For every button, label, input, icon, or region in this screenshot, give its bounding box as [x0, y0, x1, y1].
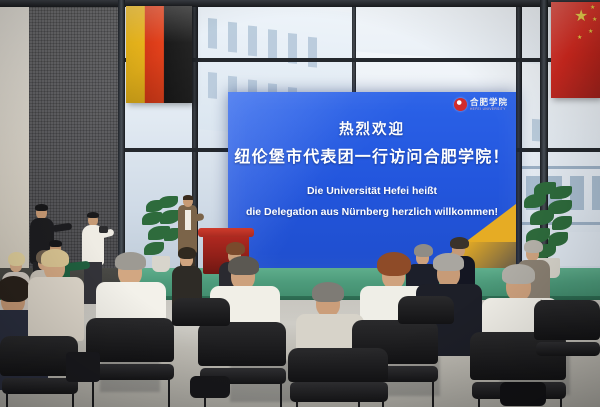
logo-english-name: HEFEI UNIVERSITY [470, 108, 508, 111]
logo-chinese-name: 合肥学院 [470, 98, 508, 107]
university-logo: 合肥学院 HEFEI UNIVERSITY [454, 98, 508, 111]
speaker-shirt [185, 210, 191, 230]
welcome-subhead-chinese: 纽伦堡市代表团一行访问合肥学院！ [228, 143, 516, 167]
hefei-university-seal-icon [454, 98, 467, 111]
bag-on-floor [190, 376, 230, 398]
flag-china: ★ ★ ★ ★ ★ [551, 2, 600, 98]
window-transom [120, 58, 600, 62]
bag-on-floor [66, 352, 100, 382]
screen-message-block: 热烈欢迎 纽伦堡市代表团一行访问合肥学院！ Die Universität He… [228, 118, 516, 218]
welcome-headline-german: Die Universität Hefei heißt [228, 185, 516, 197]
event-photograph: ★ ★ ★ ★ ★ 合肥学院 HEFEI UNIVERSITY 热烈欢迎 纽伦堡… [0, 0, 600, 407]
ceiling-beam [0, 0, 600, 7]
led-display-screen[interactable]: 合肥学院 HEFEI UNIVERSITY 热烈欢迎 纽伦堡市代表团一行访问合肥… [228, 92, 516, 272]
bag-on-floor [500, 382, 546, 406]
speaker-hair [183, 195, 193, 200]
welcome-headline-chinese: 热烈欢迎 [228, 118, 516, 139]
potted-plant-left [140, 196, 182, 272]
welcome-subhead-german: die Delegation aus Nürnberg herzlich wil… [228, 206, 516, 218]
flag-germany [126, 6, 192, 103]
lectern-top [198, 228, 254, 237]
